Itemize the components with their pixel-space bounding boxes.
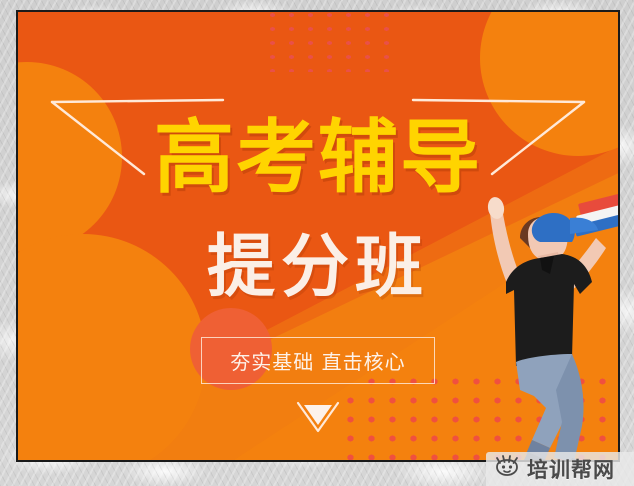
sunburst-face-icon (494, 455, 520, 484)
watermark-text: 培训帮网 (527, 454, 615, 484)
chevron-down-icon[interactable] (295, 400, 341, 439)
page-title: 高考辅导 (18, 118, 618, 198)
dot-grid-top-icon (263, 10, 395, 72)
course-promo-banner: 高考辅导 提分班 夯实基础 直击核心 (16, 10, 620, 462)
tagline-box: 夯实基础 直击核心 (201, 337, 435, 384)
jumping-student-illustration (454, 190, 620, 462)
tagline-text: 夯实基础 直击核心 (230, 346, 405, 375)
site-watermark: 培训帮网 (486, 452, 634, 486)
